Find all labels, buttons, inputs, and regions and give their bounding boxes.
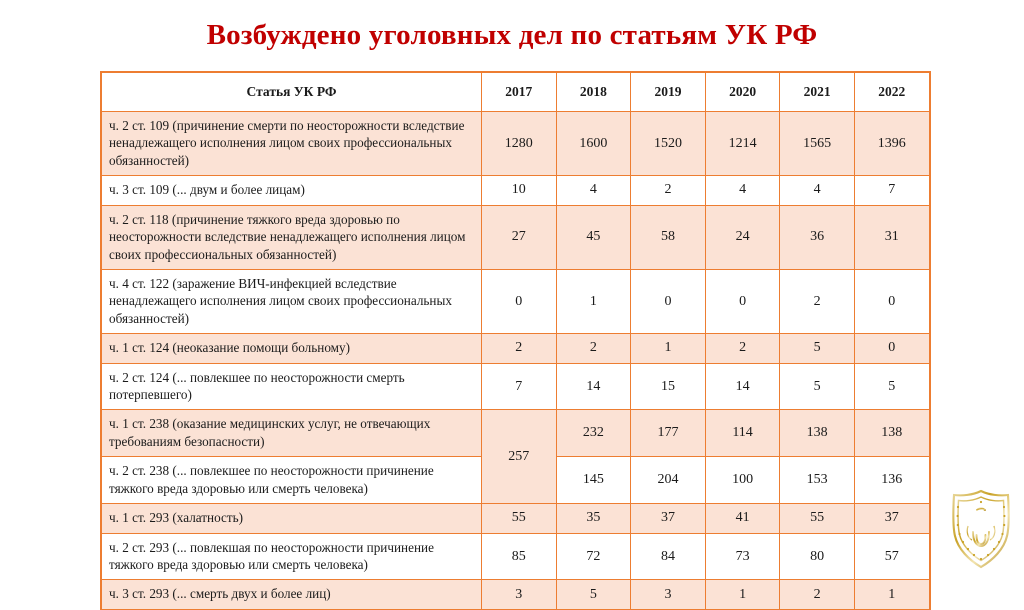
cell-value-2018: 5 bbox=[556, 580, 631, 609]
cell-article: ч. 2 ст. 118 (причинение тяжкого вреда з… bbox=[102, 205, 482, 269]
cell-value-2021: 1565 bbox=[780, 112, 855, 176]
cell-value-2017: 1280 bbox=[482, 112, 557, 176]
cell-article: ч. 4 ст. 122 (заражение ВИЧ-инфекцией вс… bbox=[102, 269, 482, 333]
table-row: ч. 2 ст. 124 (... повлекшее по неосторож… bbox=[102, 363, 930, 410]
cell-article: ч. 2 ст. 124 (... повлекшее по неосторож… bbox=[102, 363, 482, 410]
cell-value-2019: 84 bbox=[631, 533, 706, 580]
cell-value-2018: 1 bbox=[556, 269, 631, 333]
cell-value-2018: 4 bbox=[556, 176, 631, 205]
cell-value-2017: 2 bbox=[482, 334, 557, 363]
cell-value-2021: 36 bbox=[780, 205, 855, 269]
cell-value-2017: 85 bbox=[482, 533, 557, 580]
column-header-2018: 2018 bbox=[556, 73, 631, 112]
table-row: ч. 3 ст. 109 (... двум и более лицам)104… bbox=[102, 176, 930, 205]
table-header: Статья УК РФ 2017 2018 2019 2020 2021 20… bbox=[102, 73, 930, 112]
cell-value-2019: 1 bbox=[631, 334, 706, 363]
table-header-row: Статья УК РФ 2017 2018 2019 2020 2021 20… bbox=[102, 73, 930, 112]
cell-value-2020: 100 bbox=[705, 457, 780, 504]
cell-value-2019: 204 bbox=[631, 457, 706, 504]
cell-value-2017: 27 bbox=[482, 205, 557, 269]
cell-value-2017: 3 bbox=[482, 580, 557, 609]
cell-article: ч. 3 ст. 293 (... смерть двух и более ли… bbox=[102, 580, 482, 609]
cell-article: ч. 1 ст. 124 (неоказание помощи больному… bbox=[102, 334, 482, 363]
table-row: ч. 2 ст. 109 (причинение смерти по неост… bbox=[102, 112, 930, 176]
cell-value-2018: 35 bbox=[556, 504, 631, 533]
cell-value-2022: 1396 bbox=[854, 112, 929, 176]
cell-value-2019: 15 bbox=[631, 363, 706, 410]
cell-value-2019: 0 bbox=[631, 269, 706, 333]
cell-article: ч. 1 ст. 238 (оказание медицинских услуг… bbox=[102, 410, 482, 457]
cell-value-2017: 7 bbox=[482, 363, 557, 410]
cell-value-2018: 1600 bbox=[556, 112, 631, 176]
cell-value-2022: 5 bbox=[854, 363, 929, 410]
cell-value-2022: 0 bbox=[854, 269, 929, 333]
column-header-article: Статья УК РФ bbox=[102, 73, 482, 112]
cell-value-2021: 5 bbox=[780, 363, 855, 410]
cell-value-2022: 0 bbox=[854, 334, 929, 363]
cell-value-2019: 3 bbox=[631, 580, 706, 609]
cell-value-2021: 4 bbox=[780, 176, 855, 205]
cell-value-2022: 136 bbox=[854, 457, 929, 504]
table-row: ч. 1 ст. 124 (неоказание помощи больному… bbox=[102, 334, 930, 363]
cell-value-2022: 7 bbox=[854, 176, 929, 205]
column-header-2020: 2020 bbox=[705, 73, 780, 112]
cell-value-2018: 232 bbox=[556, 410, 631, 457]
cell-value-2020: 0 bbox=[705, 269, 780, 333]
statistics-table: Статья УК РФ 2017 2018 2019 2020 2021 20… bbox=[101, 72, 930, 610]
cell-value-2019: 37 bbox=[631, 504, 706, 533]
cell-article: ч. 2 ст. 293 (... повлекшая по неосторож… bbox=[102, 533, 482, 580]
cell-value-2019: 177 bbox=[631, 410, 706, 457]
cell-value-2018: 2 bbox=[556, 334, 631, 363]
table-row: ч. 1 ст. 293 (халатность)553537415537 bbox=[102, 504, 930, 533]
statistics-table-container: Статья УК РФ 2017 2018 2019 2020 2021 20… bbox=[101, 72, 929, 610]
cell-value-2021: 55 bbox=[780, 504, 855, 533]
cell-value-2020: 73 bbox=[705, 533, 780, 580]
slide-canvas: Возбуждено уголовных дел по статьям УК Р… bbox=[0, 0, 1024, 576]
cell-article: ч. 2 ст. 238 (... повлекшее по неосторож… bbox=[102, 457, 482, 504]
column-header-2022: 2022 bbox=[854, 73, 929, 112]
cell-value-2021: 80 bbox=[780, 533, 855, 580]
cell-value-2020: 41 bbox=[705, 504, 780, 533]
cell-article: ч. 3 ст. 109 (... двум и более лицам) bbox=[102, 176, 482, 205]
cell-value-2018: 145 bbox=[556, 457, 631, 504]
cell-value-2021: 153 bbox=[780, 457, 855, 504]
cell-value-2018: 45 bbox=[556, 205, 631, 269]
cell-value-2020: 14 bbox=[705, 363, 780, 410]
cell-value-2018: 14 bbox=[556, 363, 631, 410]
cell-value-2020: 24 bbox=[705, 205, 780, 269]
cell-value-2020: 4 bbox=[705, 176, 780, 205]
cell-value-2019: 58 bbox=[631, 205, 706, 269]
cell-value-2022: 31 bbox=[854, 205, 929, 269]
page-title: Возбуждено уголовных дел по статьям УК Р… bbox=[0, 20, 1024, 52]
cell-value-2022: 37 bbox=[854, 504, 929, 533]
table-body: ч. 2 ст. 109 (причинение смерти по неост… bbox=[102, 112, 930, 610]
cell-value-2020: 114 bbox=[705, 410, 780, 457]
cell-article: ч. 1 ст. 293 (халатность) bbox=[102, 504, 482, 533]
cell-value-2021: 5 bbox=[780, 334, 855, 363]
column-header-2019: 2019 bbox=[631, 73, 706, 112]
cell-value-2022: 138 bbox=[854, 410, 929, 457]
table-row: ч. 4 ст. 122 (заражение ВИЧ-инфекцией вс… bbox=[102, 269, 930, 333]
table-row: ч. 3 ст. 293 (... смерть двух и более ли… bbox=[102, 580, 930, 609]
cell-value-2017: 55 bbox=[482, 504, 557, 533]
cell-value-merged-2017: 257 bbox=[482, 410, 557, 504]
cell-value-2021: 2 bbox=[780, 580, 855, 609]
cell-value-2022: 1 bbox=[854, 580, 929, 609]
cell-value-2017: 0 bbox=[482, 269, 557, 333]
cell-value-2020: 2 bbox=[705, 334, 780, 363]
table-row: ч. 2 ст. 293 (... повлекшая по неосторож… bbox=[102, 533, 930, 580]
column-header-2021: 2021 bbox=[780, 73, 855, 112]
cell-value-2020: 1 bbox=[705, 580, 780, 609]
cell-article: ч. 2 ст. 109 (причинение смерти по неост… bbox=[102, 112, 482, 176]
table-row: ч. 2 ст. 118 (причинение тяжкого вреда з… bbox=[102, 205, 930, 269]
cell-value-2020: 1214 bbox=[705, 112, 780, 176]
cell-value-2021: 2 bbox=[780, 269, 855, 333]
cell-value-2019: 1520 bbox=[631, 112, 706, 176]
cell-value-2019: 2 bbox=[631, 176, 706, 205]
cell-value-2022: 57 bbox=[854, 533, 929, 580]
cell-value-2017: 10 bbox=[482, 176, 557, 205]
shield-monogram-emblem bbox=[946, 488, 1016, 570]
cell-value-2021: 138 bbox=[780, 410, 855, 457]
cell-value-2018: 72 bbox=[556, 533, 631, 580]
column-header-2017: 2017 bbox=[482, 73, 557, 112]
table-row: ч. 1 ст. 238 (оказание медицинских услуг… bbox=[102, 410, 930, 457]
